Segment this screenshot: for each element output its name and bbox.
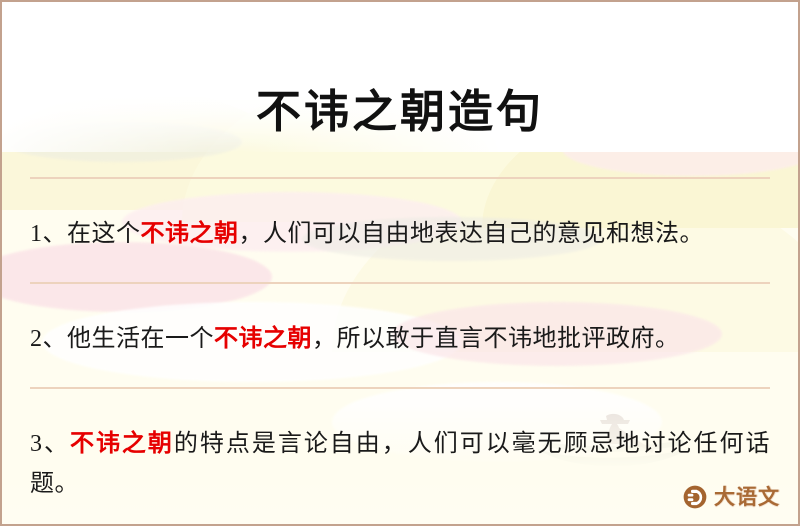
sentence-index-3: 3、 bbox=[30, 431, 70, 457]
sentence-before-1: 在这个 bbox=[67, 221, 141, 247]
divider-top bbox=[30, 177, 770, 179]
content-area: 不讳之朝造句 1、在这个不讳之朝，人们可以自由地表达自己的意见和想法。 2、他生… bbox=[2, 32, 798, 526]
example-sentence-2: 2、他生活在一个不讳之朝，所以敢于直言不讳地批评政府。 bbox=[30, 308, 770, 363]
divider-after-sentence-2 bbox=[30, 387, 770, 389]
example-sentence-1: 1、在这个不讳之朝，人们可以自由地表达自己的意见和想法。 bbox=[30, 203, 770, 258]
circular-seal-icon bbox=[682, 484, 708, 510]
example-sentence-3: 3、不讳之朝的特点是言论自由，人们可以毫无顾忌地讨论任何话题。 bbox=[30, 413, 770, 508]
sentence-after-1: ，人们可以自由地表达自己的意见和想法。 bbox=[239, 221, 705, 247]
poster-page: 不讳之朝造句 1、在这个不讳之朝，人们可以自由地表达自己的意见和想法。 2、他生… bbox=[0, 0, 800, 526]
keyword-highlight-3: 不讳之朝 bbox=[70, 431, 174, 457]
sentence-before-2: 他生活在一个 bbox=[67, 326, 214, 352]
divider-after-sentence-1 bbox=[30, 282, 770, 284]
keyword-highlight-2: 不讳之朝 bbox=[214, 326, 312, 352]
sentence-index-1: 1、 bbox=[30, 221, 67, 247]
brand-logo: 大语文 bbox=[682, 484, 780, 510]
sentence-after-2: ，所以敢于直言不讳地批评政府。 bbox=[312, 326, 680, 352]
brand-logo-text: 大语文 bbox=[714, 487, 780, 508]
keyword-highlight-1: 不讳之朝 bbox=[141, 221, 239, 247]
sentence-index-2: 2、 bbox=[30, 326, 67, 352]
page-title: 不讳之朝造句 bbox=[30, 32, 770, 135]
